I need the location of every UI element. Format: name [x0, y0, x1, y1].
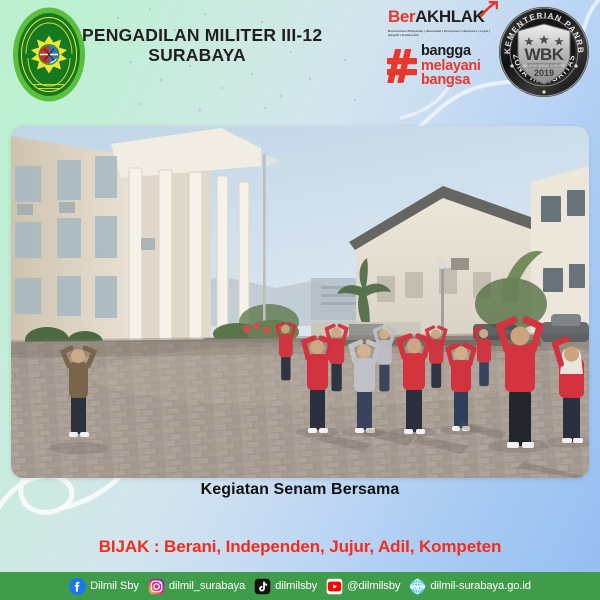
facebook-handle: Dilmil Sby	[90, 580, 139, 592]
header: P PENGADILAN MILITER III-12 SURABAYA Ber…	[0, 0, 600, 118]
svg-text:WBK: WBK	[524, 45, 564, 64]
bangga-line-1: bangga	[421, 44, 481, 59]
hashtag-icon	[387, 49, 417, 83]
berakhlak-subtitle: Berorientasi Pelayanan | Akuntabel | Kom…	[388, 29, 500, 38]
berakhlak-wordmark: BerAKHLAK	[388, 8, 485, 25]
social-website[interactable]: www dilmil-surabaya.go.id	[409, 578, 530, 595]
page-title: PENGADILAN MILITER III-12 SURABAYA	[82, 26, 312, 65]
youtube-icon[interactable]	[326, 578, 343, 595]
activity-photo-illustration	[11, 126, 589, 478]
instagram-icon[interactable]	[148, 578, 165, 595]
svg-text:2019: 2019	[534, 68, 554, 78]
tiktok-icon[interactable]	[254, 578, 271, 595]
page-title-line-1: PENGADILAN MILITER III-12	[82, 26, 312, 46]
bangga-line-2: melayani	[421, 59, 481, 74]
facebook-icon[interactable]	[69, 578, 86, 595]
swoosh-icon	[480, 1, 498, 17]
youtube-handle: @dilmilsby	[347, 580, 400, 592]
page-title-line-2: SURABAYA	[82, 46, 312, 66]
pengadilan-militer-crest-icon: P	[12, 6, 86, 103]
instagram-handle: dilmil_surabaya	[169, 580, 245, 592]
activity-caption: Kegiatan Senam Bersama	[0, 481, 600, 499]
bijak-tagline: BIJAK : Berani, Independen, Jujur, Adil,…	[0, 537, 600, 557]
berakhlak-prefix: Ber	[388, 7, 415, 26]
website-www-icon[interactable]: www	[409, 578, 426, 595]
svg-text:www: www	[410, 584, 425, 590]
tiktok-handle: dilmilsby	[275, 580, 317, 592]
website-handle: dilmil-surabaya.go.id	[430, 580, 530, 592]
social-instagram[interactable]: dilmil_surabaya	[148, 578, 245, 595]
social-footer: Dilmil Sby dilmil_surabaya dilmilsby	[0, 572, 600, 600]
bangga-line-3: bangsa	[421, 73, 481, 88]
berakhlak-suffix: AKHLAK	[415, 7, 484, 26]
social-facebook[interactable]: Dilmil Sby	[69, 578, 139, 595]
wbk-zona-integritas-seal-icon: KEMENTERIAN PANRB ZONA INTEGRITAS WBK WI…	[498, 6, 590, 98]
bangga-melayani-bangsa-logo: bangga melayani bangsa	[387, 45, 502, 87]
social-tiktok[interactable]: dilmilsby	[254, 578, 317, 595]
activity-photo	[11, 126, 589, 478]
berakhlak-logo: BerAKHLAK Berorientasi Pelayanan | Akunt…	[388, 8, 500, 38]
social-youtube[interactable]: @dilmilsby	[326, 578, 400, 595]
